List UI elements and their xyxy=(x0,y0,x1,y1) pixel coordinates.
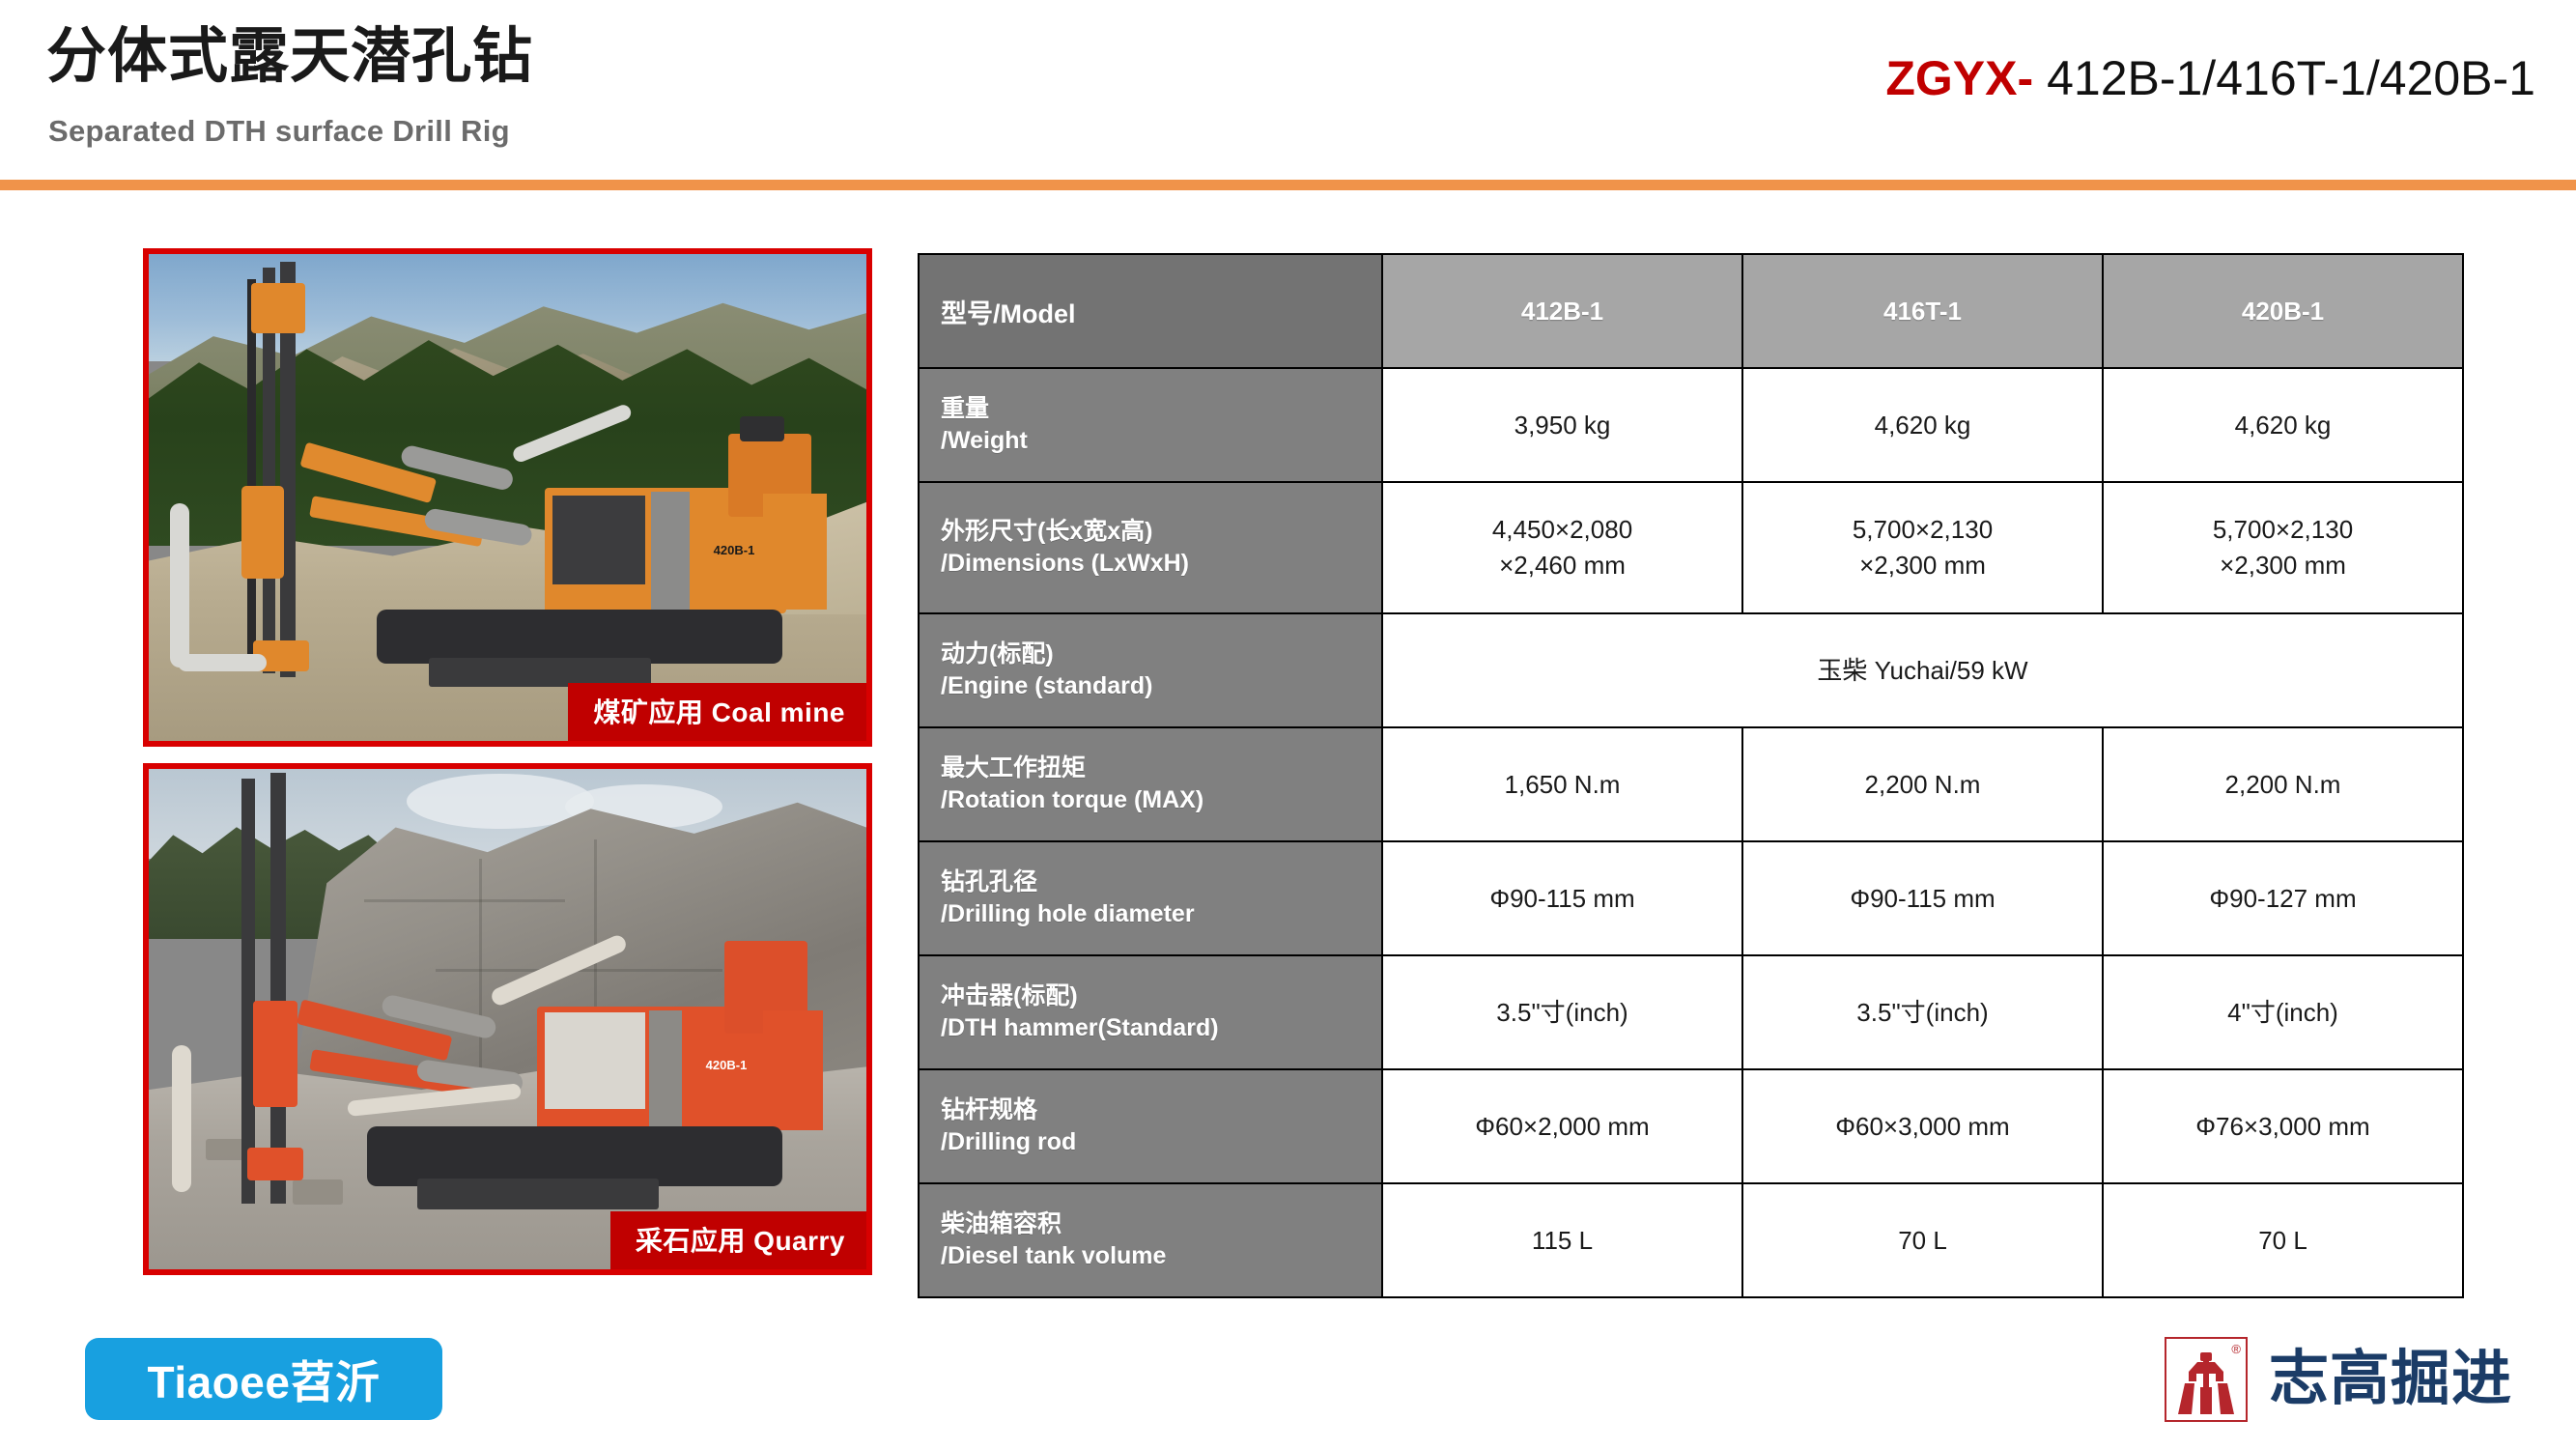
mast-carriage xyxy=(253,1001,297,1107)
accent-divider xyxy=(0,180,2576,190)
photo-caption-coal-mine: 煤矿应用 Coal mine xyxy=(568,683,866,741)
cell-hole-diameter-416T-1: Φ90-115 mm xyxy=(1742,841,2103,955)
row-label-en: /Drilling rod xyxy=(941,1128,1076,1155)
tiaoee-badge-label: Tiaoee苕沂 xyxy=(148,1348,381,1411)
cell-rod-412B-1: Φ60×2,000 mm xyxy=(1382,1069,1742,1183)
row-label-en: /DTH hammer(Standard) xyxy=(941,1014,1219,1041)
row-label-zh: 冲击器(标配) xyxy=(941,982,1078,1009)
rubble xyxy=(293,1179,343,1205)
cell-hammer-420B-1: 4"寸(inch) xyxy=(2103,955,2463,1069)
row-label-dimensions: 外形尺寸(长x宽x高) /Dimensions (LxWxH) xyxy=(919,482,1382,613)
row-label-zh: 柴油箱容积 xyxy=(941,1210,1062,1237)
company-logo: ® 志高掘进 xyxy=(2165,1335,2512,1424)
cell-dimensions-416T-1: 5,700×2,130 ×2,300 mm xyxy=(1742,482,2103,613)
row-label-zh: 重量 xyxy=(941,395,989,422)
row-label-en: /Engine (standard) xyxy=(941,672,1152,699)
cell-dimensions-412B-1: 4,450×2,080 ×2,460 mm xyxy=(1382,482,1742,613)
dimension-line-2: ×2,300 mm xyxy=(2105,548,2461,583)
rock-bed-line xyxy=(364,899,565,902)
cell-torque-412B-1: 1,650 N.m xyxy=(1382,727,1742,841)
rear-housing xyxy=(763,494,827,610)
mast-base xyxy=(247,1148,303,1180)
panel-divider xyxy=(651,492,690,611)
row-label-zh: 动力(标配) xyxy=(941,640,1054,668)
dimension-line-1: 5,700×2,130 xyxy=(1853,515,1993,544)
drill-rig-glyph-icon xyxy=(2176,1352,2236,1416)
table-row-drilling-rod: 钻杆规格 /Drilling rod Φ60×2,000 mm Φ60×3,00… xyxy=(919,1069,2463,1183)
rubble xyxy=(206,1139,244,1160)
model-codes: 412B-1/416T-1/420B-1 xyxy=(2047,51,2535,105)
cell-dimensions-420B-1: 5,700×2,130 ×2,300 mm xyxy=(2103,482,2463,613)
table-row-diesel-tank: 柴油箱容积 /Diesel tank volume 115 L 70 L 70 … xyxy=(919,1183,2463,1297)
header-cell-model-2: 420B-1 xyxy=(2103,254,2463,368)
page-header: 分体式露天潜孔钻 Separated DTH surface Drill Rig… xyxy=(0,0,2576,179)
photo-coal-mine-image: 420B-1 xyxy=(149,254,866,741)
photo-quarry: 420B-1 采石应用 Quarry xyxy=(143,763,872,1275)
row-label-zh: 最大工作扭矩 xyxy=(941,754,1086,781)
row-label-en: /Diesel tank volume xyxy=(941,1242,1166,1269)
cell-torque-420B-1: 2,200 N.m xyxy=(2103,727,2463,841)
tiaoee-badge: Tiaoee苕沂 xyxy=(85,1338,442,1420)
table-row-engine: 动力(标配) /Engine (standard) 玉柴 Yuchai/59 k… xyxy=(919,613,2463,727)
header-cell-model-0: 412B-1 xyxy=(1382,254,1742,368)
photo-caption-quarry: 采石应用 Quarry xyxy=(610,1211,866,1269)
cell-hammer-416T-1: 3.5"寸(inch) xyxy=(1742,955,2103,1069)
dimension-line-1: 5,700×2,130 xyxy=(2213,515,2353,544)
row-label-zh: 外形尺寸(长x宽x高) xyxy=(941,518,1152,545)
control-panel xyxy=(552,496,645,584)
page-subtitle-en: Separated DTH surface Drill Rig xyxy=(48,114,510,149)
rotary-head xyxy=(251,283,305,333)
row-label-en: /Drilling hole diameter xyxy=(941,900,1195,927)
row-label-en: /Rotation torque (MAX) xyxy=(941,786,1203,813)
table-row-rotation-torque: 最大工作扭矩 /Rotation torque (MAX) 1,650 N.m … xyxy=(919,727,2463,841)
dimension-line-2: ×2,460 mm xyxy=(1384,548,1741,583)
row-label-zh: 钻孔孔径 xyxy=(941,868,1037,895)
air-hose-left xyxy=(172,1045,191,1192)
zhigao-logo-mark-icon: ® xyxy=(2165,1337,2248,1422)
row-label-dth-hammer: 冲击器(标配) /DTH hammer(Standard) xyxy=(919,955,1382,1069)
cell-tank-420B-1: 70 L xyxy=(2103,1183,2463,1297)
panel-divider xyxy=(649,1010,682,1134)
row-label-zh: 钻杆规格 xyxy=(941,1096,1037,1123)
table-row-dth-hammer: 冲击器(标配) /DTH hammer(Standard) 3.5"寸(inch… xyxy=(919,955,2463,1069)
cell-hole-diameter-412B-1: Φ90-115 mm xyxy=(1382,841,1742,955)
row-label-hole-diameter: 钻孔孔径 /Drilling hole diameter xyxy=(919,841,1382,955)
row-label-weight: 重量 /Weight xyxy=(919,368,1382,482)
collector-top xyxy=(740,416,784,441)
table-row-dimensions: 外形尺寸(长x宽x高) /Dimensions (LxWxH) 4,450×2,… xyxy=(919,482,2463,613)
mast-foot xyxy=(241,486,284,579)
specification-table: 型号/Model 412B-1 416T-1 420B-1 重量 /Weight… xyxy=(918,253,2464,1298)
row-label-en: /Weight xyxy=(941,427,1028,454)
brand-dash: - xyxy=(2018,51,2034,105)
track-frame xyxy=(417,1179,659,1209)
dimension-line-1: 4,450×2,080 xyxy=(1492,515,1632,544)
photo-quarry-image: 420B-1 xyxy=(149,769,866,1269)
page-title-zh: 分体式露天潜孔钻 xyxy=(46,27,533,87)
cell-weight-412B-1: 3,950 kg xyxy=(1382,368,1742,482)
cell-rod-420B-1: Φ76×3,000 mm xyxy=(2103,1069,2463,1183)
table-row-hole-diameter: 钻孔孔径 /Drilling hole diameter Φ90-115 mm … xyxy=(919,841,2463,955)
row-label-rotation-torque: 最大工作扭矩 /Rotation torque (MAX) xyxy=(919,727,1382,841)
photo-coal-mine: 420B-1 煤矿应用 Coal mine xyxy=(143,248,872,747)
mast-rail-right xyxy=(270,773,286,1204)
cell-weight-416T-1: 4,620 kg xyxy=(1742,368,2103,482)
rear-housing xyxy=(763,1010,823,1130)
crawler-track xyxy=(377,610,782,664)
row-label-diesel-tank: 柴油箱容积 /Diesel tank volume xyxy=(919,1183,1382,1297)
row-label-drilling-rod: 钻杆规格 /Drilling rod xyxy=(919,1069,1382,1183)
cell-rod-416T-1: Φ60×3,000 mm xyxy=(1742,1069,2103,1183)
cell-hole-diameter-420B-1: Φ90-127 mm xyxy=(2103,841,2463,955)
machine-model-label: 420B-1 xyxy=(678,1051,775,1078)
row-label-engine: 动力(标配) /Engine (standard) xyxy=(919,613,1382,727)
cell-engine-all-models: 玉柴 Yuchai/59 kW xyxy=(1382,613,2463,727)
control-panel xyxy=(545,1012,645,1109)
cell-tank-412B-1: 115 L xyxy=(1382,1183,1742,1297)
mast-rail-left xyxy=(241,779,255,1204)
dimension-line-2: ×2,300 mm xyxy=(1744,548,2101,583)
cell-weight-420B-1: 4,620 kg xyxy=(2103,368,2463,482)
row-label-en: /Dimensions (LxWxH) xyxy=(941,550,1189,577)
header-cell-model-1: 416T-1 xyxy=(1742,254,2103,368)
company-name-label: 志高掘进 xyxy=(2269,1350,2512,1409)
air-hose-bottom xyxy=(178,654,267,671)
brand-name: ZGYX xyxy=(1885,51,2017,105)
model-series-heading: ZGYX- 412B-1/416T-1/420B-1 xyxy=(1885,54,2535,102)
mast-hose-rail xyxy=(247,279,256,666)
table-row-weight: 重量 /Weight 3,950 kg 4,620 kg 4,620 kg xyxy=(919,368,2463,482)
cell-hammer-412B-1: 3.5"寸(inch) xyxy=(1382,955,1742,1069)
crawler-track xyxy=(367,1126,782,1186)
cell-torque-416T-1: 2,200 N.m xyxy=(1742,727,2103,841)
air-hose-left xyxy=(170,503,189,668)
cell-tank-416T-1: 70 L xyxy=(1742,1183,2103,1297)
table-header-row: 型号/Model 412B-1 416T-1 420B-1 xyxy=(919,254,2463,368)
header-cell-model-label: 型号/Model xyxy=(919,254,1382,368)
